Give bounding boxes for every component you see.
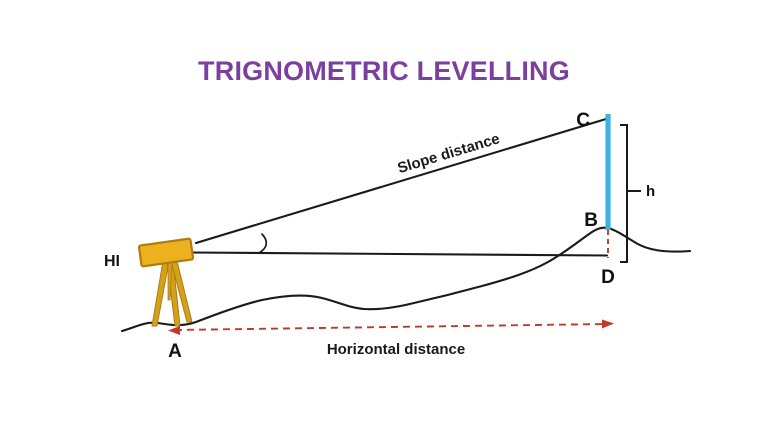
trignometric-levelling-diagram: TRIGNOMETRIC LEVELLING h [0, 0, 768, 432]
point-d-label: D [601, 267, 615, 288]
height-h-label: h [646, 183, 655, 200]
page-title: TRIGNOMETRIC LEVELLING [198, 56, 570, 86]
horizontal-distance-label: Horizontal distance [327, 341, 465, 358]
point-b-label: B [584, 210, 598, 231]
diagram-canvas: TRIGNOMETRIC LEVELLING h [0, 0, 768, 432]
point-c-label: C [576, 110, 590, 131]
instrument-height-label: HI [104, 253, 120, 270]
station-a-label: A [168, 341, 182, 362]
